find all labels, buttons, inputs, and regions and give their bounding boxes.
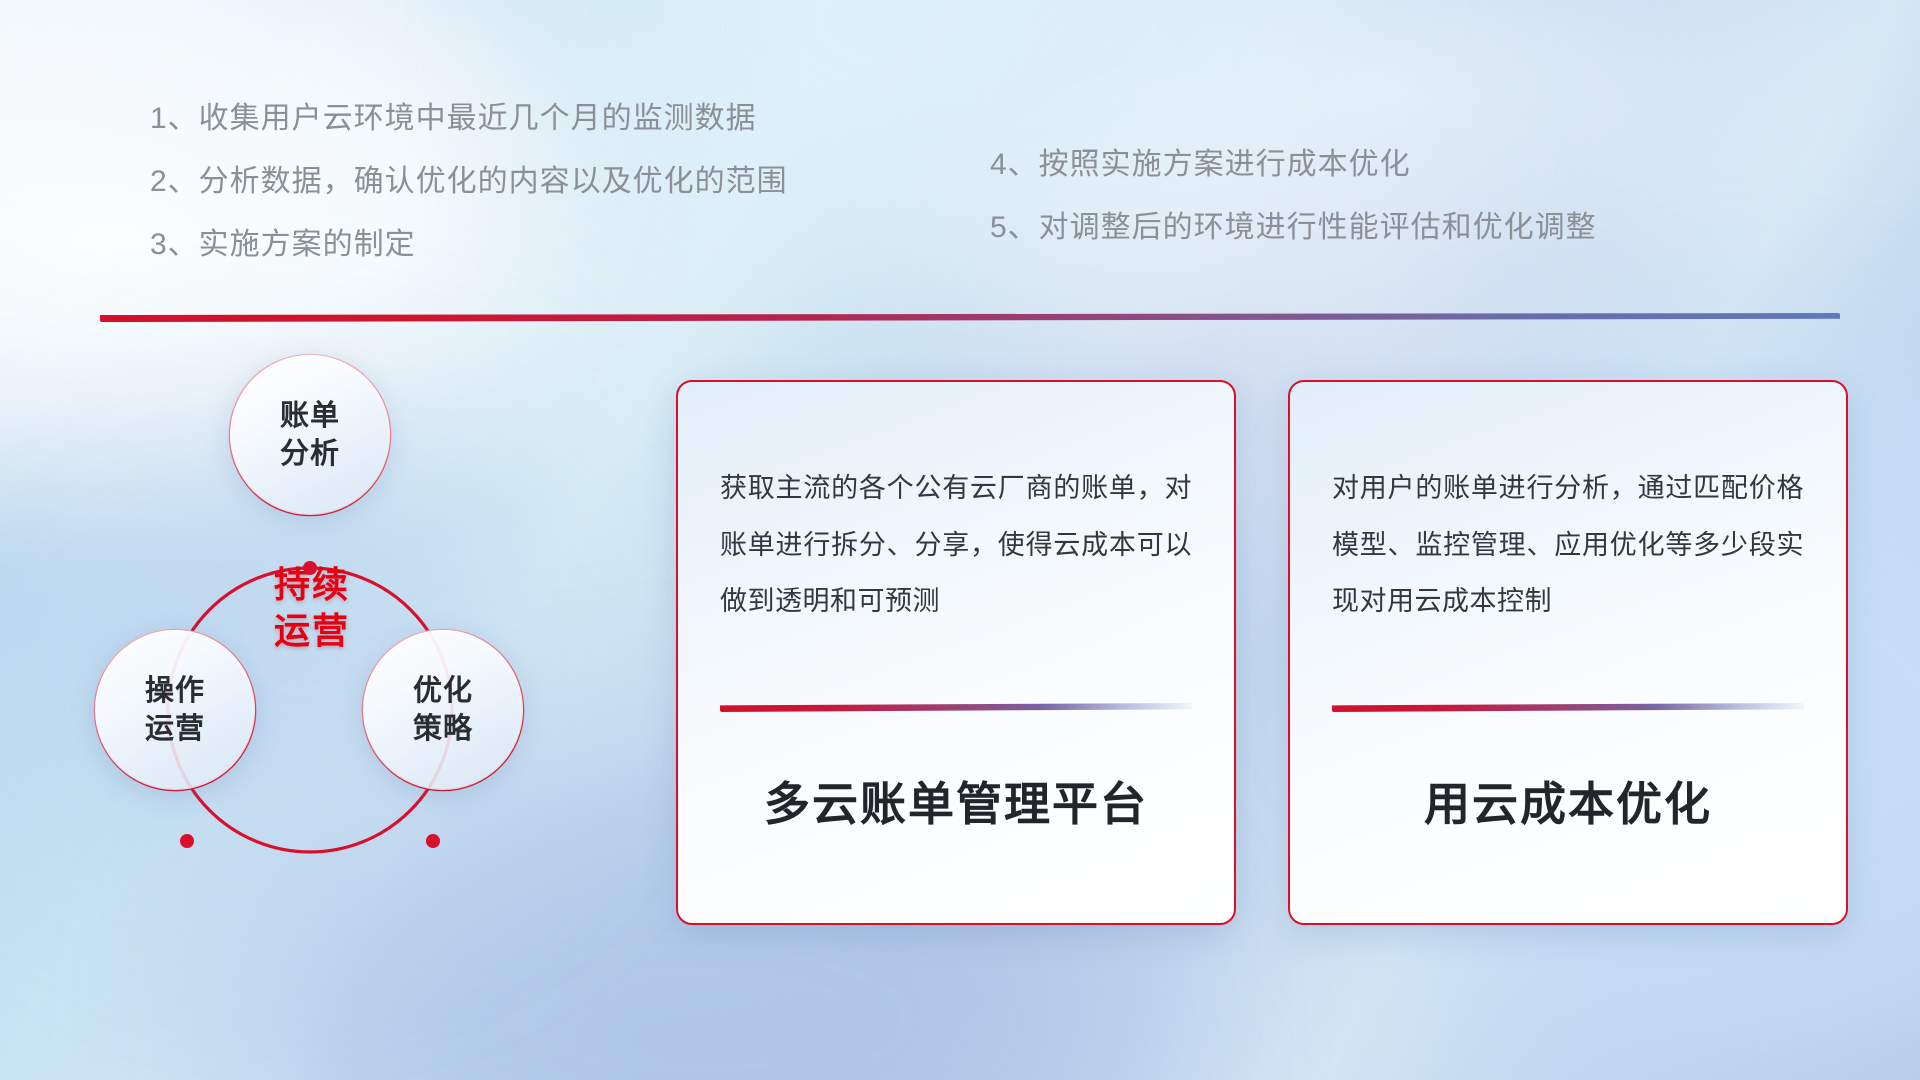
card-divider xyxy=(720,703,1192,712)
card-divider-bar xyxy=(720,703,1192,712)
venn-node-left-icon xyxy=(180,834,194,848)
process-step-5: 5、对调整后的环境进行性能评估和优化调整 xyxy=(990,213,1770,243)
feature-cards: 获取主流的各个公有云厂商的账单，对账单进行拆分、分享，使得云成本可以做到透明和可… xyxy=(676,380,1848,925)
process-step-4: 4、按照实施方案进行成本优化 xyxy=(990,150,1770,180)
card-body-text: 对用户的账单进行分析，通过匹配价格模型、监控管理、应用优化等多少段实现对用云成本… xyxy=(1332,460,1804,695)
process-step-1: 1、收集用户云环境中最近几个月的监测数据 xyxy=(150,104,990,134)
process-steps-left-column: 1、收集用户云环境中最近几个月的监测数据 2、分析数据，确认优化的内容以及优化的… xyxy=(150,104,990,293)
card-title: 用云成本优化 xyxy=(1332,768,1804,834)
venn-circle-optimize-policy-label: 优化 策略 xyxy=(413,672,473,749)
section-divider xyxy=(100,313,1840,322)
card-divider xyxy=(1332,703,1804,712)
process-steps-right-column: 4、按照实施方案进行成本优化 5、对调整后的环境进行性能评估和优化调整 xyxy=(990,104,1770,293)
process-step-3: 3、实施方案的制定 xyxy=(150,230,990,260)
venn-circle-ops-operation[interactable]: 操作 运营 xyxy=(95,630,255,790)
card-title: 多云账单管理平台 xyxy=(720,768,1192,834)
card-cloud-cost-optimization[interactable]: 对用户的账单进行分析，通过匹配价格模型、监控管理、应用优化等多少段实现对用云成本… xyxy=(1288,380,1848,925)
slide-root: 1、收集用户云环境中最近几个月的监测数据 2、分析数据，确认优化的内容以及优化的… xyxy=(0,0,1920,1080)
card-multi-cloud-billing-platform[interactable]: 获取主流的各个公有云厂商的账单，对账单进行拆分、分享，使得云成本可以做到透明和可… xyxy=(676,380,1236,925)
process-steps-list: 1、收集用户云环境中最近几个月的监测数据 2、分析数据，确认优化的内容以及优化的… xyxy=(150,104,1790,293)
venn-circle-ops-operation-label: 操作 运营 xyxy=(145,672,205,749)
venn-circle-bill-analysis[interactable]: 账单 分析 xyxy=(230,355,390,515)
process-step-2: 2、分析数据，确认优化的内容以及优化的范围 xyxy=(150,167,990,197)
continuous-operation-diagram: 账单 分析 操作 运营 优化 策略 持续 运营 xyxy=(95,355,565,915)
venn-node-right-icon xyxy=(426,834,440,848)
venn-center-label: 持续 运营 xyxy=(232,562,392,654)
card-divider-bar xyxy=(1332,703,1804,712)
section-divider-bar xyxy=(100,313,1840,322)
card-body-text: 获取主流的各个公有云厂商的账单，对账单进行拆分、分享，使得云成本可以做到透明和可… xyxy=(720,460,1192,695)
venn-circle-bill-analysis-label: 账单 分析 xyxy=(280,397,340,474)
